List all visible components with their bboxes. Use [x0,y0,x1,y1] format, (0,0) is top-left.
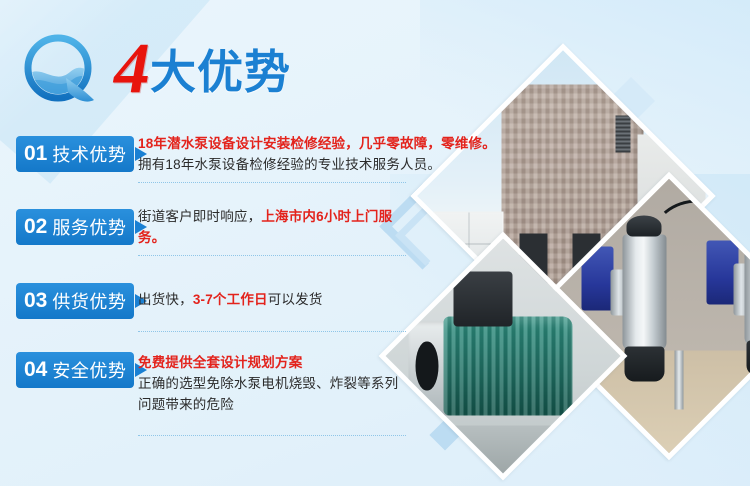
advantage-title-03: 供货优势 [52,288,126,314]
building-vent-icon [616,116,631,153]
banner-header: 4大优势 [18,26,348,116]
pump-inlet-hole [416,341,438,391]
advantage-number-03: 03 [24,289,47,313]
advantage-text-04: 免费提供全套设计规划方案 正确的选型免除水泵电机烧毁、炸裂等系列 问题带来的危险 [138,352,410,415]
advantage-number-04: 04 [24,358,47,382]
advantage-badge-01[interactable]: 01 技术优势 [16,136,144,172]
page-title: 4大优势 [114,32,291,104]
advantage-segment: 可以发货 [268,292,323,307]
pump-terminal-box [453,271,513,326]
advantage-title-04: 安全优势 [52,357,126,383]
advantage-line: 街道客户即时响应，上海市内6小时上门服 [138,206,410,227]
pump-ground [379,426,628,481]
advantages-banner: 4大优势 01 技术优势 18年潜水泵设备设计安装检修经验，几乎零故障，零维修。… [0,0,750,494]
advantage-line: 18年潜水泵设备设计安装检修经验，几乎零故障，零维修。 [138,133,410,154]
advantage-title-01: 技术优势 [52,141,126,167]
pump-green-housing [443,316,572,416]
advantage-separator-03 [138,331,406,332]
advantage-line: 正确的选型免除水泵电机烧毁、炸裂等系列 [138,373,410,394]
advantage-line: 务。 [138,227,410,248]
submersible-pump-2 [745,229,750,345]
blue-valve-1 [582,246,614,310]
advantage-badge-03[interactable]: 03 供货优势 [16,283,144,319]
advantage-separator-04 [138,435,406,436]
advantage-segment: 3-7个工作日 [193,292,268,307]
advantage-text-03: 出货快，3-7个工作日可以发货 [138,289,410,310]
advantage-line: 出货快，3-7个工作日可以发货 [138,289,410,310]
headline-number: 4 [114,28,148,108]
pump-stand [675,351,684,409]
advantage-line: 问题带来的危险 [138,394,410,415]
advantage-line: 拥有18年水泵设备检修经验的专业技术服务人员。 [138,154,410,175]
advantage-badge-02[interactable]: 02 服务优势 [16,209,144,245]
headline-text: 大优势 [150,46,291,98]
q-wave-logo-icon [20,30,104,114]
advantage-segment: 上海市内6小时上门服 [261,209,392,224]
advantage-number-01: 01 [24,142,47,166]
advantage-segment: 出货快， [138,292,193,307]
advantage-text-01: 18年潜水泵设备设计安装检修经验，几乎零故障，零维修。 拥有18年水泵设备检修经… [138,133,410,175]
advantage-badge-04[interactable]: 04 安全优势 [16,352,144,388]
advantage-title-02: 服务优势 [52,214,126,240]
advantage-segment: 街道客户即时响应， [138,209,261,224]
advantage-text-02: 街道客户即时响应，上海市内6小时上门服 务。 [138,206,410,248]
pump-power-cable [652,200,745,276]
photo-collage [395,92,750,494]
advantage-separator-02 [138,255,406,256]
advantage-number-02: 02 [24,215,47,239]
advantage-line: 免费提供全套设计规划方案 [138,352,410,373]
advantage-separator-01 [138,182,406,183]
